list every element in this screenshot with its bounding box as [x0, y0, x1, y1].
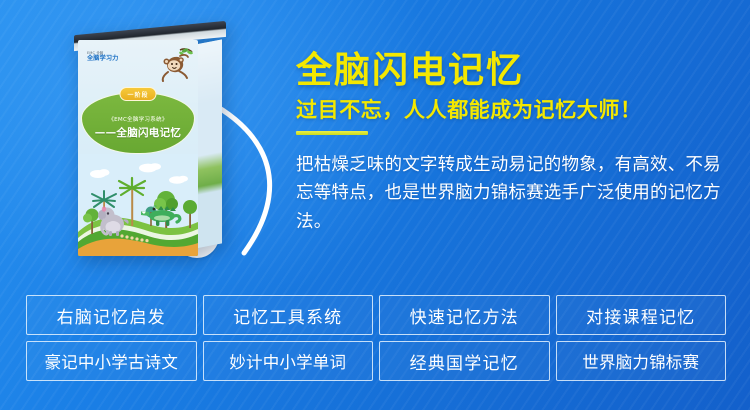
- box-series-text: 《EMC全脑学习系统》: [81, 115, 195, 123]
- feature-tag[interactable]: 妙计中小学单词: [203, 341, 374, 381]
- box-brand-logo: EMC 全脑 全脑学习力: [87, 52, 118, 63]
- product-figure: EMC 全脑 全脑学习力: [60, 22, 270, 292]
- copy-block: 全脑闪电记忆 过目不忘，人人都能成为记忆大师！ 把枯燥乏味的文字转成生动易记的物…: [296, 52, 736, 236]
- monkey-icon: [154, 48, 194, 82]
- feature-tag[interactable]: 经典国学记忆: [379, 341, 550, 381]
- box-stage-badge: 一阶段: [119, 87, 156, 101]
- box-product-title: ——全脑闪电记忆: [81, 125, 195, 140]
- feature-tag[interactable]: 右脑记忆启发: [26, 295, 197, 335]
- feature-tag-grid: 右脑记忆启发 记忆工具系统 快速记忆方法 对接课程记忆 豪记中小学古诗文 妙计中…: [26, 295, 726, 381]
- subheadline: 过目不忘，人人都能成为记忆大师！: [296, 98, 736, 122]
- divider-rule: [296, 131, 368, 135]
- description-paragraph: 把枯燥乏味的文字转成生动易记的物象，有高效、不易忘等特点，也是世界脑力锦标赛选手…: [296, 151, 728, 236]
- product-box: EMC 全脑 全脑学习力: [78, 28, 222, 256]
- feature-tag[interactable]: 世界脑力锦标赛: [556, 341, 727, 381]
- box-side-panel: [198, 39, 222, 248]
- headline: 全脑闪电记忆: [296, 52, 736, 91]
- box-scene-illustration: [78, 154, 198, 256]
- promo-banner: EMC 全脑 全脑学习力: [0, 0, 750, 410]
- box-front-panel: EMC 全脑 全脑学习力: [78, 40, 198, 256]
- box-logo-maintext: 全脑学习力: [87, 56, 118, 62]
- box-title-label: 一阶段 《EMC全脑学习系统》 ——全脑闪电记忆: [81, 92, 195, 154]
- feature-tag[interactable]: 对接课程记忆: [556, 295, 727, 335]
- feature-tag[interactable]: 快速记忆方法: [379, 295, 550, 335]
- feature-tag[interactable]: 豪记中小学古诗文: [26, 341, 197, 381]
- feature-tag[interactable]: 记忆工具系统: [203, 295, 374, 335]
